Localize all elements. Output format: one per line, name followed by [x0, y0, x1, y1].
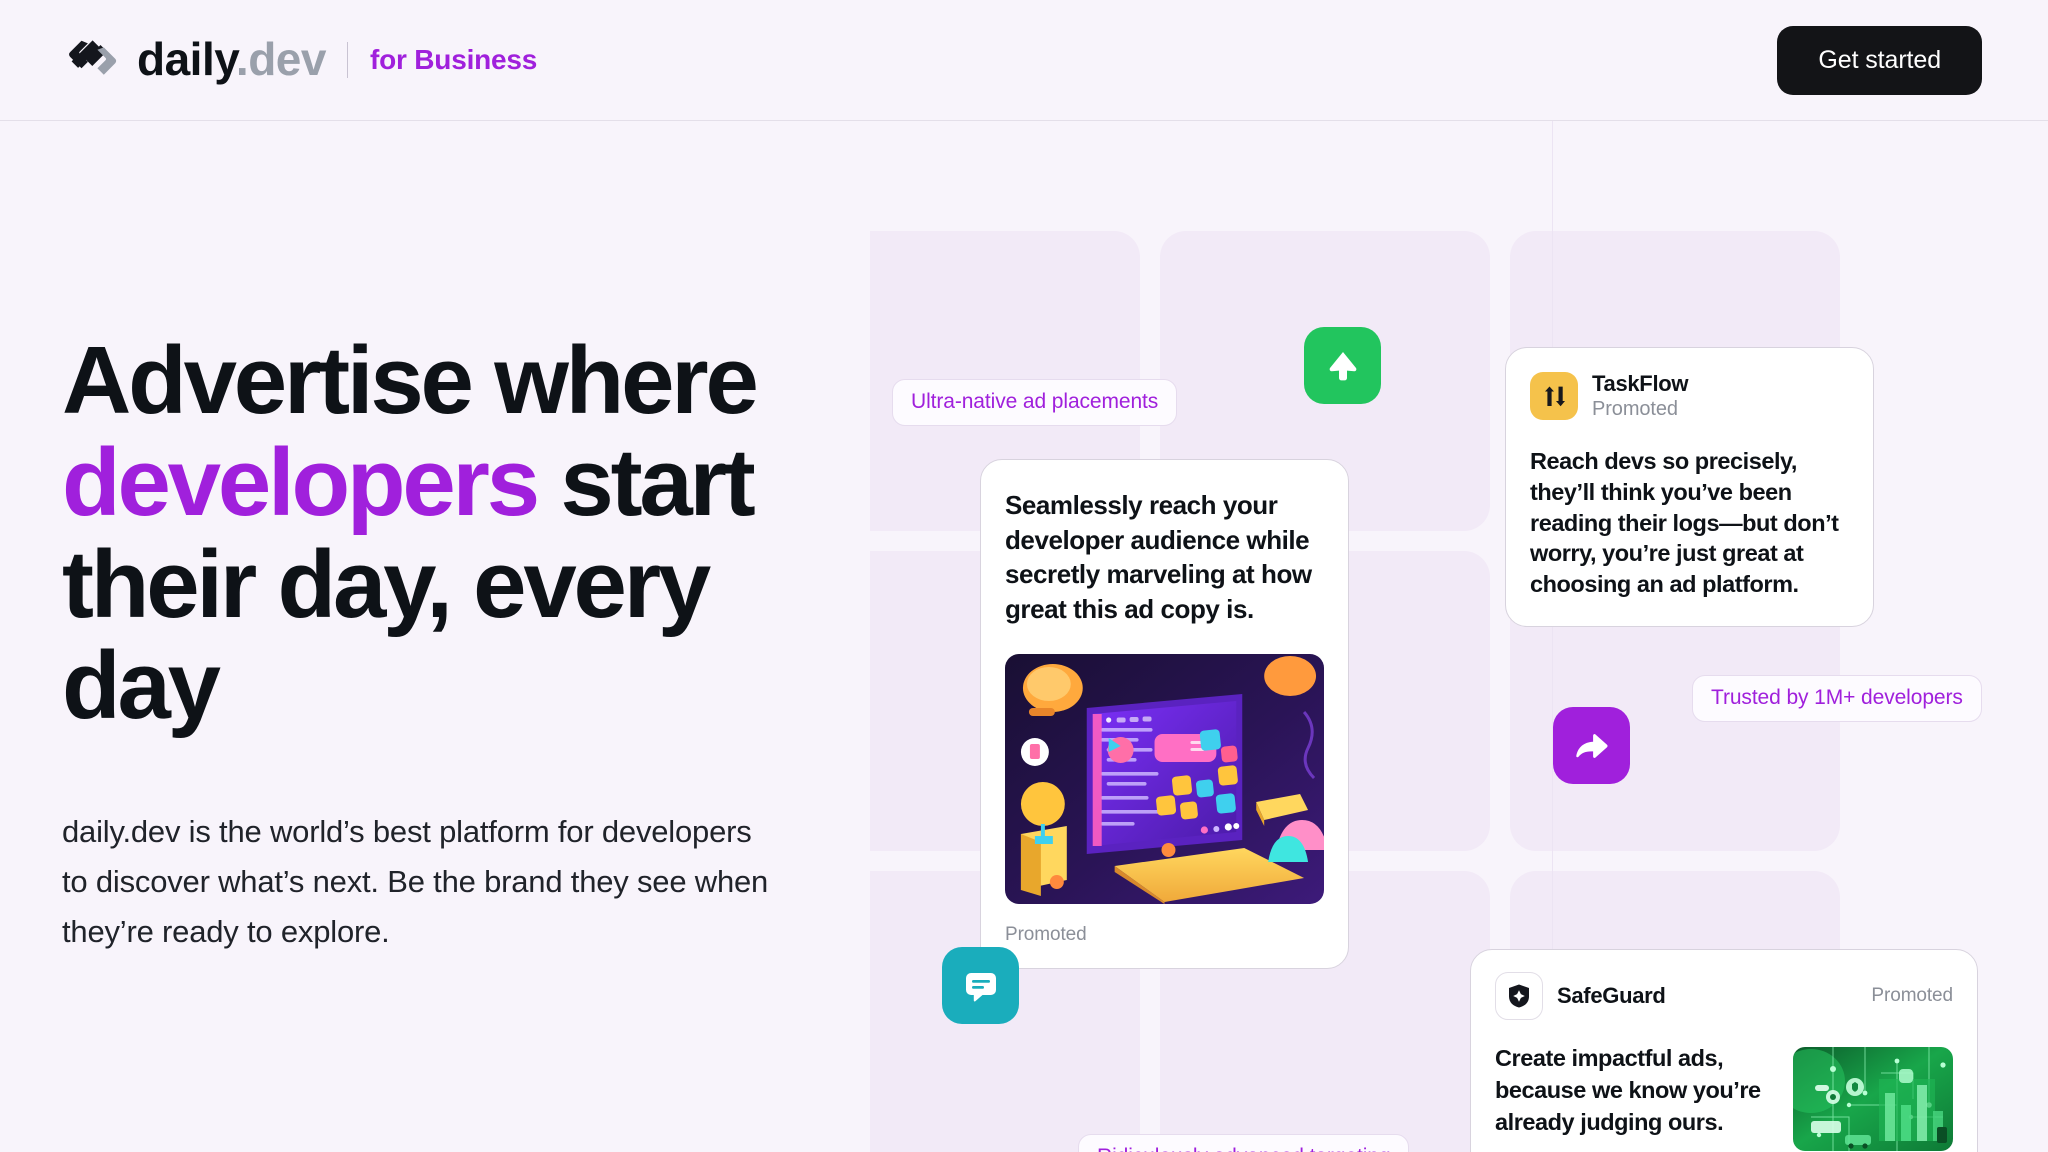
ad-card-taskflow[interactable]: TaskFlow Promoted Reach devs so precisel…	[1505, 347, 1874, 627]
ad-card-thumbnail-circuit-board	[1793, 1047, 1953, 1151]
ad-card-title: Reach devs so precisely, they’ll think y…	[1530, 446, 1849, 600]
ad-card-app-name: SafeGuard	[1557, 983, 1666, 1009]
ad-card-promoted-label: Promoted	[1005, 924, 1324, 946]
logo-word-daily: daily	[137, 33, 236, 85]
ad-card-app-name: TaskFlow	[1592, 371, 1688, 397]
daily-dev-chevron-logo-icon	[62, 38, 124, 82]
ad-card-promoted-label: Promoted	[1592, 398, 1688, 421]
brand-divider	[347, 42, 348, 78]
ad-card-body: Create impactful ads, because we know yo…	[1495, 1043, 1953, 1152]
brand-lockup[interactable]: daily.dev for Business	[62, 30, 537, 90]
ad-card-text-column: Create impactful ads, because we know yo…	[1495, 1043, 1771, 1152]
upvote-arrow-icon	[1322, 345, 1364, 387]
ad-card-header: TaskFlow Promoted	[1530, 371, 1849, 421]
logo-word-tld: .dev	[236, 33, 326, 85]
get-started-button[interactable]: Get started	[1777, 26, 1982, 95]
logo-wordmark: daily.dev	[137, 36, 326, 82]
comment-bubble-icon-tile[interactable]	[942, 947, 1019, 1024]
hero-copy-column: Advertise where developers start their d…	[62, 330, 852, 958]
ad-card-title: Create impactful ads, because we know yo…	[1495, 1043, 1771, 1139]
badge-trusted-by-developers: Trusted by 1M+ developers	[1692, 675, 1982, 722]
hero-subcopy: daily.dev is the world’s best platform f…	[62, 807, 772, 958]
ad-card-promoted-label: Promoted	[1871, 985, 1953, 1007]
share-arrow-icon-tile[interactable]	[1553, 707, 1630, 784]
ad-card-app-meta: SafeGuard	[1495, 972, 1666, 1020]
comment-bubble-icon	[960, 965, 1002, 1007]
taskflow-flow-arrows-icon	[1530, 372, 1578, 420]
badge-advanced-targeting: Ridiculously advanced targeting	[1078, 1134, 1409, 1152]
ad-card-title: Seamlessly reach your developer audience…	[1005, 488, 1324, 626]
badge-ultra-native-placements: Ultra-native ad placements	[892, 379, 1177, 426]
headline-accent-developers: developers	[62, 429, 537, 536]
ad-card-app-meta: TaskFlow Promoted	[1592, 371, 1688, 421]
headline-segment-1: Advertise where	[62, 327, 756, 434]
hero-headline: Advertise where developers start their d…	[62, 330, 822, 737]
site-header: daily.dev for Business Get started	[0, 0, 2048, 121]
upvote-arrow-icon-tile[interactable]	[1304, 327, 1381, 404]
ad-card-seamless[interactable]: Seamlessly reach your developer audience…	[980, 459, 1349, 969]
hero-showcase: Ultra-native ad placements Trusted by 1M…	[870, 121, 2048, 1152]
brand-suffix-for-business: for Business	[370, 44, 537, 76]
ad-card-thumbnail-developer-workspace	[1005, 654, 1324, 904]
ad-card-header: SafeGuard Promoted	[1495, 972, 1953, 1020]
ad-card-safeguard[interactable]: SafeGuard Promoted Create impactful ads,…	[1470, 949, 1978, 1152]
shield-sparkle-icon	[1495, 972, 1543, 1020]
share-arrow-icon	[1571, 725, 1613, 767]
